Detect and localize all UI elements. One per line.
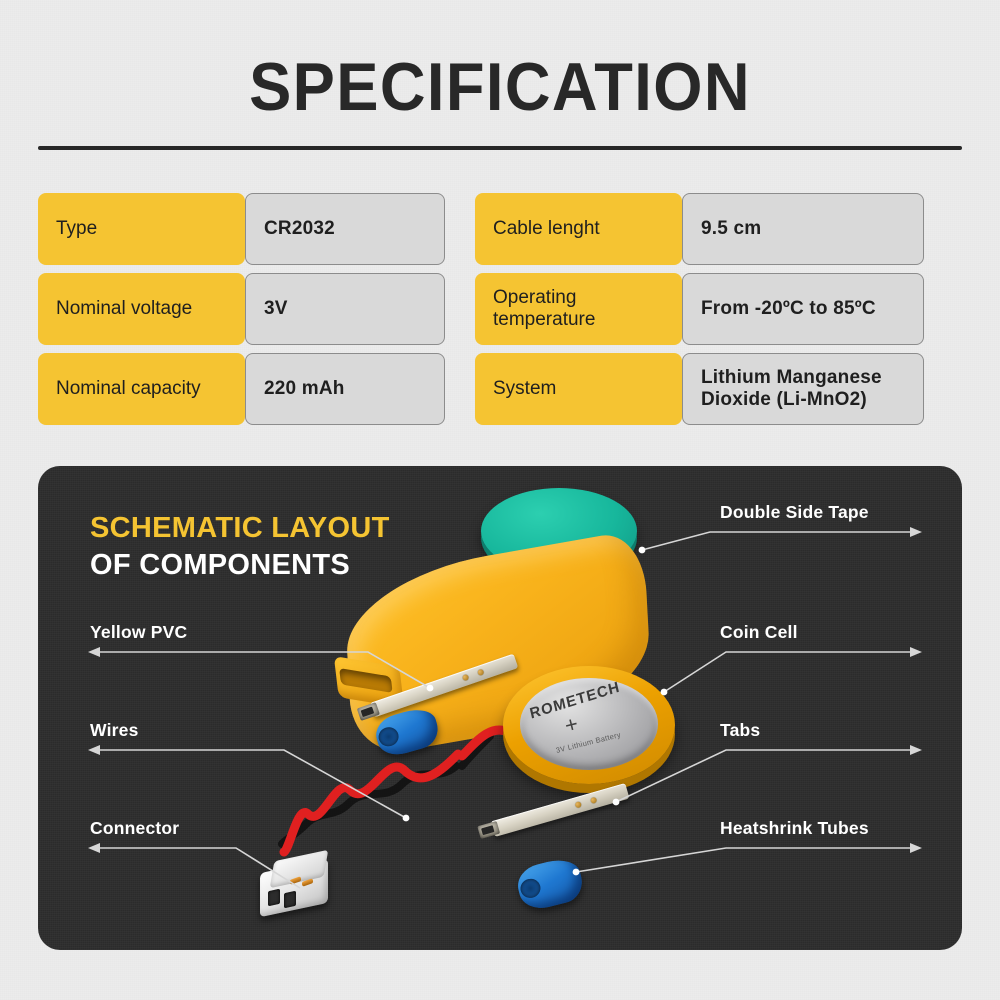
- wires-graphic: [38, 466, 962, 950]
- spec-value-system: Lithium Manganese Dioxide (Li-MnO2): [682, 353, 924, 425]
- specification-table: Type CR2032 Cable lenght 9.5 cm Nominal …: [38, 193, 962, 425]
- spec-value-type: CR2032: [245, 193, 445, 265]
- spec-label-type: Type: [38, 193, 245, 265]
- connector-graphic: [250, 854, 346, 916]
- callout-label-heatshrink-tubes: Heatshrink Tubes: [720, 818, 869, 839]
- spec-value-capacity: 220 mAh: [245, 353, 445, 425]
- specification-infographic: SPECIFICATION Type CR2032 Cable lenght 9…: [0, 0, 1000, 1000]
- callout-label-yellow-pvc: Yellow PVC: [90, 622, 187, 643]
- spec-value-cable-length: 9.5 cm: [682, 193, 924, 265]
- red-wire: [284, 754, 458, 852]
- page-title: SPECIFICATION: [35, 48, 965, 126]
- connector-cavity: [284, 891, 296, 909]
- spec-label-temperature: Operating temperature: [475, 273, 682, 345]
- title-divider: [38, 146, 962, 150]
- spec-label-voltage: Nominal voltage: [38, 273, 245, 345]
- spec-label-system: System: [475, 353, 682, 425]
- schematic-panel: SCHEMATIC LAYOUT OF COMPONENTS: [38, 466, 962, 950]
- callout-label-double-side-tape: Double Side Tape: [720, 502, 869, 523]
- callout-label-wires: Wires: [90, 720, 139, 741]
- callout-label-tabs: Tabs: [720, 720, 760, 741]
- exploded-component-diagram: ROMETECH + 3V Lithium Battery: [38, 466, 962, 950]
- callout-label-coin-cell: Coin Cell: [720, 622, 798, 643]
- spec-label-capacity: Nominal capacity: [38, 353, 245, 425]
- connector-cavity: [268, 889, 280, 907]
- spec-value-voltage: 3V: [245, 273, 445, 345]
- coin-cell-graphic: ROMETECH + 3V Lithium Battery: [503, 666, 675, 784]
- spec-label-cable-length: Cable lenght: [475, 193, 682, 265]
- spec-value-temperature: From -20ºC to 85ºC: [682, 273, 924, 345]
- callout-label-connector: Connector: [90, 818, 179, 839]
